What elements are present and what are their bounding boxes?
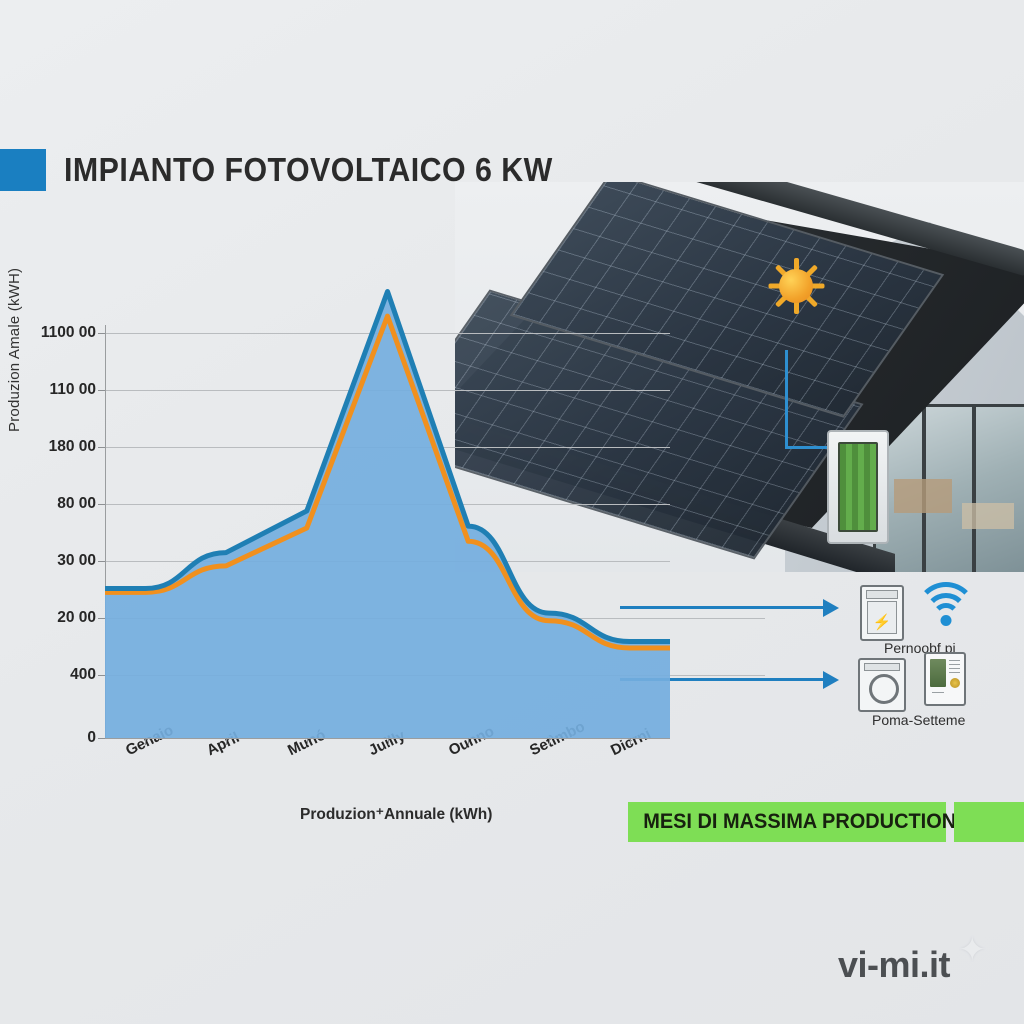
dishwasher-icon: ⚡ bbox=[860, 585, 904, 641]
y-axis-tick-label: 80 00 bbox=[57, 495, 96, 513]
y-axis-tick-mark bbox=[98, 738, 105, 739]
x-axis-tick-mark bbox=[630, 738, 631, 745]
sparkle-icon: ✦ bbox=[958, 930, 987, 970]
x-axis-tick-mark bbox=[549, 738, 550, 745]
y-axis-tick-label: 400 bbox=[70, 666, 96, 684]
battery-storage-unit bbox=[827, 430, 889, 544]
status-banner-text: MESI DI MASSIMA PRODUCTIONE bbox=[628, 810, 985, 834]
x-axis-tick-mark bbox=[145, 738, 146, 745]
grid-line bbox=[105, 333, 670, 334]
status-banner: MESI DI MASSIMA PRODUCTIONE bbox=[628, 802, 946, 842]
arrow-bottom bbox=[620, 678, 825, 681]
x-axis-tick-mark bbox=[307, 738, 308, 745]
y-axis-tick-mark bbox=[98, 333, 105, 334]
grid-line bbox=[105, 447, 670, 448]
y-axis-tick-mark bbox=[98, 504, 105, 505]
battery-cells bbox=[838, 442, 878, 532]
y-axis-tick-label: 1100 00 bbox=[41, 324, 96, 342]
y-axis-tick-mark bbox=[98, 675, 105, 676]
interior-furniture bbox=[894, 479, 952, 513]
y-axis-tick-mark bbox=[98, 561, 105, 562]
wifi-icon bbox=[918, 582, 974, 626]
y-axis-tick-label: 110 00 bbox=[49, 381, 96, 399]
y-axis-tick-mark bbox=[98, 390, 105, 391]
y-axis-tick-mark bbox=[98, 618, 105, 619]
y-axis-tick-label: 180 00 bbox=[49, 438, 96, 456]
y-axis-tick-label: 30 00 bbox=[57, 552, 96, 570]
sun-icon bbox=[770, 260, 822, 312]
y-axis-ticks: 1100 00110 00180 0080 0030 0020 004000 bbox=[0, 0, 96, 1024]
arrow-top-head bbox=[823, 599, 839, 617]
y-axis-tick-mark bbox=[98, 447, 105, 448]
status-banner-extra-block bbox=[954, 802, 1024, 842]
interior-furniture bbox=[962, 503, 1014, 529]
grid-line bbox=[105, 561, 670, 562]
x-axis-tick-mark bbox=[226, 738, 227, 745]
infographic-canvas: IMPIANTO FOTOVOLTAICO 6 KW bbox=[0, 0, 1024, 1024]
arrow-bottom-head bbox=[823, 671, 839, 689]
grid-line bbox=[105, 618, 765, 619]
watermark: vi-mi.it bbox=[838, 944, 950, 986]
x-axis-tick-mark bbox=[388, 738, 389, 745]
y-axis-title: Produzion Amale (kWH) bbox=[6, 262, 23, 432]
appliance-group-2-label: Poma-Setteme bbox=[872, 712, 965, 728]
x-axis-tick-mark bbox=[468, 738, 469, 745]
y-axis-line bbox=[105, 325, 106, 739]
energy-label-icon bbox=[924, 652, 966, 706]
grid-line bbox=[105, 390, 670, 391]
washing-machine-icon bbox=[858, 658, 906, 712]
window-mullion bbox=[972, 407, 976, 572]
grid-line bbox=[105, 675, 765, 676]
y-axis-tick-label: 0 bbox=[87, 729, 96, 747]
arrow-top bbox=[620, 606, 825, 609]
washer-drum-icon bbox=[869, 674, 899, 704]
x-axis-title: Produzion⁺Annuale (kWh) bbox=[300, 805, 492, 824]
grid-line bbox=[105, 504, 670, 505]
y-axis-tick-label: 20 00 bbox=[57, 609, 96, 627]
